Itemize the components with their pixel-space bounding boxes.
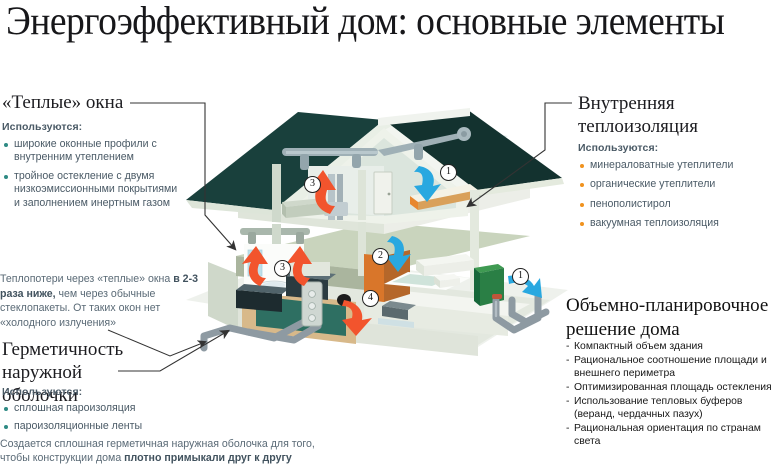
list-warm-windows: широкие оконные профили с внутренним уте… <box>4 138 179 215</box>
list-inner-insulation: минераловатные утеплители органические у… <box>580 159 776 237</box>
page-title: Энергоэффективный дом: основные элементы <box>6 0 730 44</box>
boiler-gauge-1 <box>309 291 316 298</box>
heading-inner-insulation-l2: теплоизоляция <box>578 116 698 137</box>
heading-airtightness-l2: наружной оболочки <box>2 362 82 406</box>
list-item: Рациональная ориентация по странам света <box>566 422 778 448</box>
note-heatloss-p1: Теплопотери через «теплые» окна <box>0 273 173 285</box>
callout-4: 4 <box>362 290 379 307</box>
note-heatloss: Теплопотери через «теплые» окна в 2-3 ра… <box>0 272 218 330</box>
heading-layout-solution-l2: решение дома <box>566 319 680 340</box>
house-cutaway-illustration: 1 2 3 3 4 1 <box>178 104 568 359</box>
note-airtightness-strong: плотно примыкали друг к другу <box>124 452 292 464</box>
heading-layout-solution: Объемно-планировочное решение дома <box>566 294 780 342</box>
pipe-coupling-right <box>492 294 502 299</box>
callout-2: 2 <box>372 248 389 265</box>
heading-warm-windows: «Теплые» окна <box>2 92 123 114</box>
note-airtightness: Создается сплошная герметичная наружная … <box>0 437 330 466</box>
infographic-page: Энергоэффективный дом: основные элементы <box>0 0 780 470</box>
boiler-gauge-3 <box>309 315 316 322</box>
heat-pump-left <box>474 268 480 306</box>
column-1 <box>272 164 281 222</box>
heading-inner-insulation-l1: Внутренняя <box>578 93 675 114</box>
heading-inner-insulation: Внутренняя теплоизоляция <box>578 92 768 138</box>
sublabel-airtightness: Используются: <box>2 386 82 398</box>
house-svg <box>178 104 568 359</box>
list-layout-solution: Компактный объем здания Рациональное соо… <box>566 340 778 449</box>
heading-airtightness-l1: Герметичность <box>2 339 123 360</box>
list-item: Оптимизированная площадь остекления <box>566 381 778 394</box>
list-item: минераловатные утеплители <box>580 159 776 172</box>
list-item: широкие оконные профили с внутренним уте… <box>4 138 179 165</box>
callout-3b: 3 <box>274 260 291 277</box>
callout-1b: 1 <box>512 268 529 285</box>
sublabel-warm-windows: Используются: <box>2 121 82 133</box>
list-item: пенополистирол <box>580 198 776 211</box>
list-item: Рациональное соотношение площади и внешн… <box>566 354 778 380</box>
list-item: пароизоляционные ленты <box>4 420 204 433</box>
list-airtightness: сплошная пароизоляция пароизоляционные л… <box>4 402 204 439</box>
heading-layout-solution-l1: Объемно-планировочное <box>566 295 768 316</box>
column-3 <box>358 170 366 220</box>
list-item: Компактный объем здания <box>566 340 778 353</box>
boiler-gauge-2 <box>309 303 316 310</box>
list-item: Использование тепловых буферов (веранд, … <box>566 395 778 421</box>
list-item: сплошная пароизоляция <box>4 402 204 415</box>
sublabel-inner-insulation: Используются: <box>578 142 658 154</box>
list-item: вакуумная теплоизоляция <box>580 217 776 230</box>
callout-1: 1 <box>440 164 457 181</box>
list-item: тройное остекление с двумя низкоэмиссион… <box>4 170 179 210</box>
list-item: органические утеплители <box>580 178 776 191</box>
door-handle <box>388 193 391 196</box>
callout-3: 3 <box>304 176 321 193</box>
heat-pump-front <box>480 268 504 306</box>
